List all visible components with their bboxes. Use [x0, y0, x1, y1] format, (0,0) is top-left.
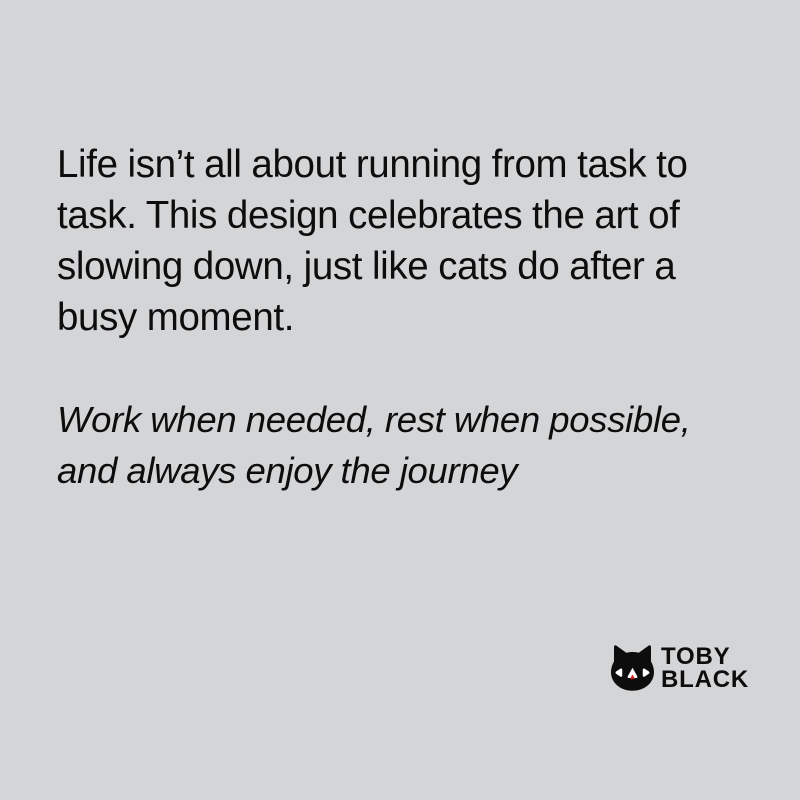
cat-head-icon — [611, 645, 654, 691]
brand-logo: TOBY BLACK — [611, 645, 749, 691]
brand-wordmark: TOBY BLACK — [661, 645, 749, 691]
brand-name-line-2: BLACK — [661, 668, 749, 691]
tagline-italic: Work when needed, rest when possible, an… — [57, 343, 747, 496]
brand-name-line-1: TOBY — [661, 645, 749, 668]
body-paragraph: Life isn’t all about running from task t… — [57, 139, 747, 343]
copy-block: Life isn’t all about running from task t… — [57, 139, 747, 496]
quote-card: Life isn’t all about running from task t… — [0, 0, 800, 800]
